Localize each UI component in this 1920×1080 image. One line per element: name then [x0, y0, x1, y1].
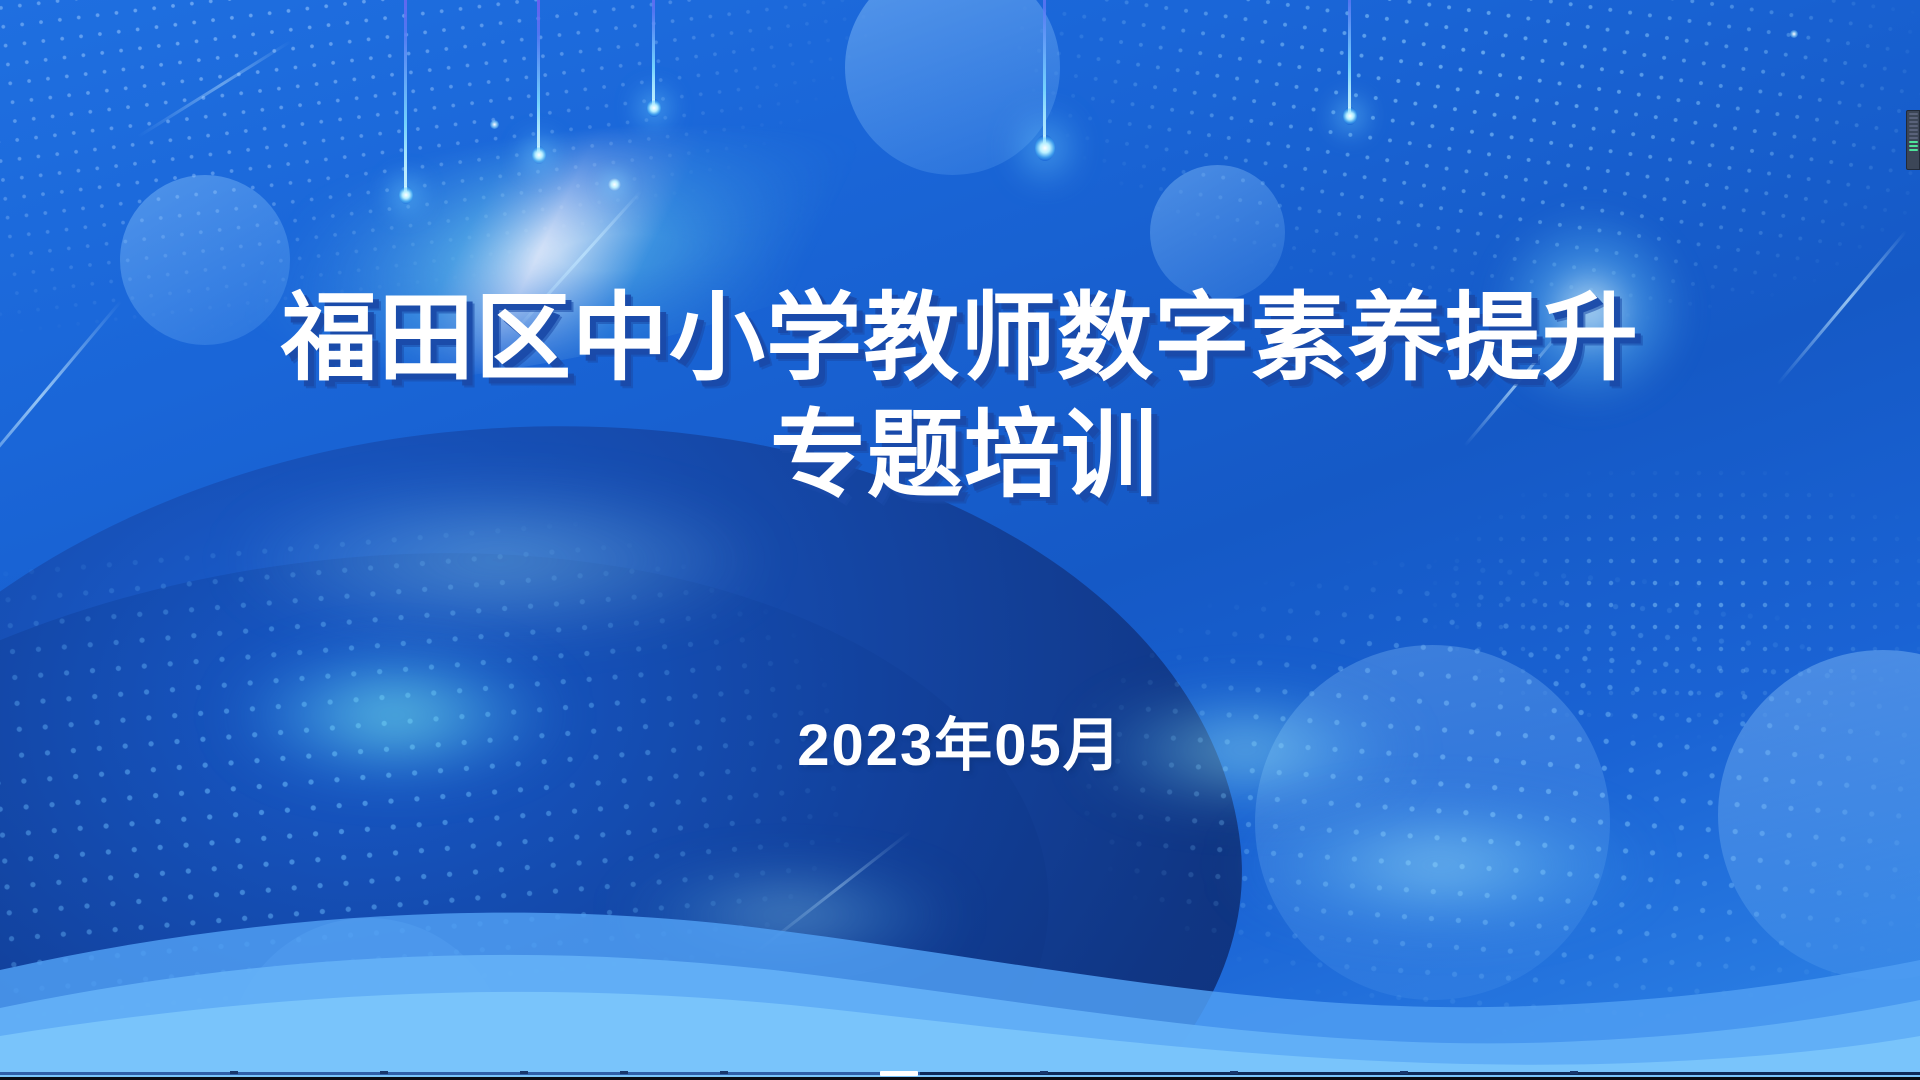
- scroll-tick-active: [1909, 141, 1918, 143]
- progress-thumb[interactable]: [880, 1071, 918, 1076]
- wave-svg: [0, 820, 1920, 1080]
- floating-light-dot-3: [1790, 30, 1798, 38]
- scroll-tick: [1909, 137, 1918, 139]
- comet-head-icon: [1343, 107, 1357, 125]
- slide-progress-bar[interactable]: [0, 1070, 1920, 1080]
- comet-head-icon: [647, 99, 661, 117]
- bottom-wave-group: [0, 820, 1920, 1080]
- scroll-tick-active: [1909, 149, 1918, 151]
- scroll-tick: [1909, 133, 1918, 135]
- title-line-1: 福田区中小学教师数字素养提升: [0, 280, 1920, 397]
- progress-notch: [1230, 1071, 1238, 1074]
- scroll-tick-active: [1909, 145, 1918, 147]
- progress-notch: [380, 1071, 388, 1074]
- progress-notch: [520, 1071, 528, 1074]
- falling-light-comet-5: [1348, 0, 1351, 116]
- falling-light-comet-1: [537, 0, 540, 155]
- comet-head-icon: [1035, 135, 1055, 161]
- diagonal-streak-6: [137, 40, 291, 138]
- progress-notch: [1570, 1071, 1578, 1074]
- progress-fill: [0, 1072, 920, 1075]
- title-line-2: 专题培训: [0, 397, 1920, 514]
- floating-light-dot-1: [608, 178, 621, 191]
- slide-date: 2023年05月: [0, 698, 1920, 782]
- scroll-tick: [1909, 129, 1918, 131]
- progress-notch: [230, 1071, 238, 1074]
- falling-light-comet-2: [652, 0, 655, 108]
- progress-notch: [620, 1071, 628, 1074]
- comet-head-icon: [532, 146, 546, 164]
- floating-light-dot-2: [490, 120, 499, 129]
- slide-title: 福田区中小学教师数字素养提升 专题培训: [0, 280, 1920, 514]
- comet-head-icon: [399, 186, 413, 204]
- scroll-tick: [1909, 113, 1918, 115]
- progress-notch: [1400, 1071, 1408, 1074]
- vertical-scroll-indicator[interactable]: [1906, 110, 1920, 170]
- scroll-tick: [1909, 125, 1918, 127]
- scroll-tick: [1909, 117, 1918, 119]
- decorative-sphere-2: [845, 0, 1060, 175]
- falling-light-comet-3: [404, 0, 407, 195]
- presentation-slide: 福田区中小学教师数字素养提升 专题培训 2023年05月: [0, 0, 1920, 1080]
- scroll-tick: [1909, 121, 1918, 123]
- date-text: 2023年05月: [797, 713, 1123, 778]
- progress-notch: [1040, 1071, 1048, 1074]
- progress-notch: [720, 1071, 728, 1074]
- falling-light-comet-4: [1043, 0, 1046, 152]
